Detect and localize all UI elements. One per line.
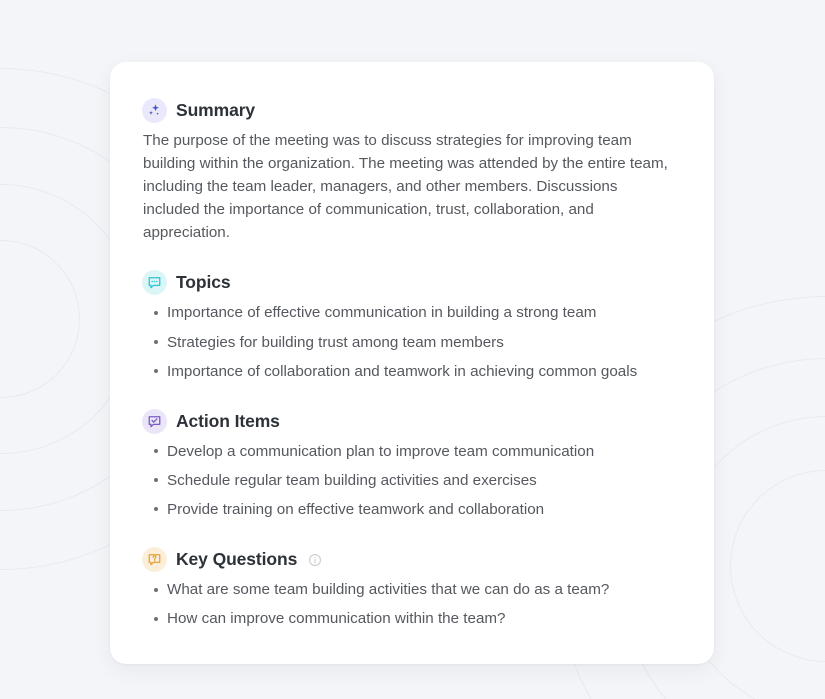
section-summary: Summary The purpose of the meeting was t…: [142, 98, 674, 244]
list-item: What are some team building activities t…: [142, 578, 674, 601]
chat-question-icon: [142, 547, 167, 572]
section-title: Summary: [176, 100, 255, 121]
summary-paragraph: The purpose of the meeting was to discus…: [142, 129, 668, 244]
list-item: Schedule regular team building activitie…: [142, 469, 674, 492]
list-item: Importance of collaboration and teamwork…: [142, 360, 674, 383]
section-title: Action Items: [176, 411, 280, 432]
section-header-summary: Summary: [142, 98, 674, 123]
decorative-ring: [730, 470, 825, 662]
key-questions-list: What are some team building activities t…: [142, 578, 674, 630]
list-item: Importance of effective communication in…: [142, 301, 674, 324]
topics-list: Importance of effective communication in…: [142, 301, 674, 382]
chat-dots-icon: [142, 270, 167, 295]
chat-check-icon: [142, 409, 167, 434]
section-action-items: Action Items Develop a communication pla…: [142, 409, 674, 521]
section-title: Topics: [176, 272, 231, 293]
list-item: Develop a communication plan to improve …: [142, 440, 674, 463]
sparkle-icon: [142, 98, 167, 123]
section-key-questions: Key Questions What are some team buildin…: [142, 547, 674, 630]
section-header-key-questions: Key Questions: [142, 547, 674, 572]
info-circle-icon[interactable]: [308, 553, 322, 567]
section-topics: Topics Importance of effective communica…: [142, 270, 674, 382]
list-item: Provide training on effective teamwork a…: [142, 498, 674, 521]
section-header-action-items: Action Items: [142, 409, 674, 434]
action-items-list: Develop a communication plan to improve …: [142, 440, 674, 521]
list-item: How can improve communication within the…: [142, 607, 674, 630]
decorative-ring: [0, 240, 80, 398]
list-item: Strategies for building trust among team…: [142, 331, 674, 354]
section-header-topics: Topics: [142, 270, 674, 295]
meeting-notes-card: Summary The purpose of the meeting was t…: [110, 62, 714, 664]
section-title: Key Questions: [176, 549, 297, 570]
